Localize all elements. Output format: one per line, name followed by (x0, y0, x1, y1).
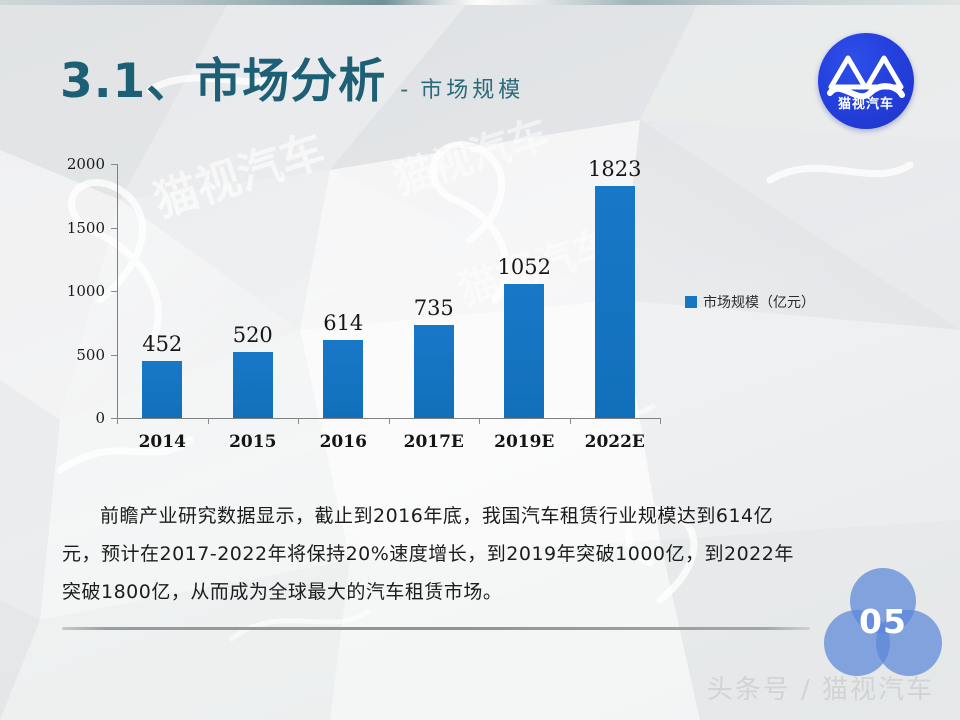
bar-2017E[interactable] (414, 325, 454, 418)
y-axis-tick (111, 355, 117, 356)
x-axis-label-2014: 2014 (139, 432, 186, 452)
legend-swatch-icon (685, 296, 697, 308)
y-axis-label: 0 (45, 409, 105, 427)
x-axis-label-2022E: 2022E (585, 432, 645, 452)
page-title: 3.1、 市场分析 - 市场规模 (60, 58, 524, 105)
logo-brand-text: 猫视汽车 (818, 93, 914, 112)
x-axis-tick (117, 418, 118, 424)
y-axis-tick (111, 291, 117, 292)
x-axis-label-2016: 2016 (320, 432, 367, 452)
x-axis-label-2017E: 2017E (404, 432, 464, 452)
brand-logo: 猫视汽车 (818, 33, 914, 129)
title-separator: - (400, 76, 408, 104)
x-axis-tick (479, 418, 480, 424)
x-axis-tick (208, 418, 209, 424)
footer-watermark: 头条号 / 猫视汽车 (707, 669, 934, 706)
x-axis-tick (660, 418, 661, 424)
bar-2015[interactable] (233, 352, 273, 418)
y-axis-label: 500 (45, 346, 105, 364)
y-axis-label: 2000 (45, 155, 105, 173)
bar-2019E[interactable] (504, 284, 544, 418)
top-accent-bar (0, 0, 960, 5)
bar-value-label: 614 (323, 311, 363, 335)
mountain-logo-icon (818, 33, 914, 129)
page-number-text: 05 (824, 602, 942, 641)
title-main-text: 市场分析 (194, 58, 386, 105)
y-axis-tick (111, 164, 117, 165)
bar-value-label: 1823 (588, 157, 641, 181)
bar-2014[interactable] (142, 361, 182, 418)
bar-value-label: 452 (142, 332, 182, 356)
y-axis-line (117, 164, 118, 419)
y-axis-label: 1500 (45, 219, 105, 237)
bar-chart: 0500100015002000452201452020156142016735… (55, 150, 675, 460)
title-subtitle: 市场规模 (420, 72, 524, 104)
legend-label: 市场规模（亿元） (703, 292, 815, 312)
y-axis-label: 1000 (45, 282, 105, 300)
x-axis-label-2015: 2015 (229, 432, 276, 452)
bar-value-label: 735 (414, 296, 454, 320)
bar-2022E[interactable] (595, 186, 635, 418)
page-number-badge: 05 (824, 568, 942, 676)
bar-value-label: 520 (233, 323, 273, 347)
y-axis-tick (111, 228, 117, 229)
title-number: 3.1、 (60, 58, 194, 105)
body-paragraph: 前瞻产业研究数据显示，截止到2016年底，我国汽车租赁行业规模达到614亿元，预… (62, 497, 802, 611)
x-axis-tick (389, 418, 390, 424)
bar-value-label: 1052 (498, 255, 551, 279)
footer-divider (62, 627, 810, 630)
chart-legend: 市场规模（亿元） (685, 292, 815, 312)
slide-canvas: 猫视汽车 猫视汽车 猫视汽车 3.1、 市场分析 - 市场规模 猫视汽车 050… (0, 0, 960, 720)
x-axis-tick (298, 418, 299, 424)
bar-2016[interactable] (323, 340, 363, 418)
x-axis-tick (570, 418, 571, 424)
x-axis-label-2019E: 2019E (494, 432, 554, 452)
